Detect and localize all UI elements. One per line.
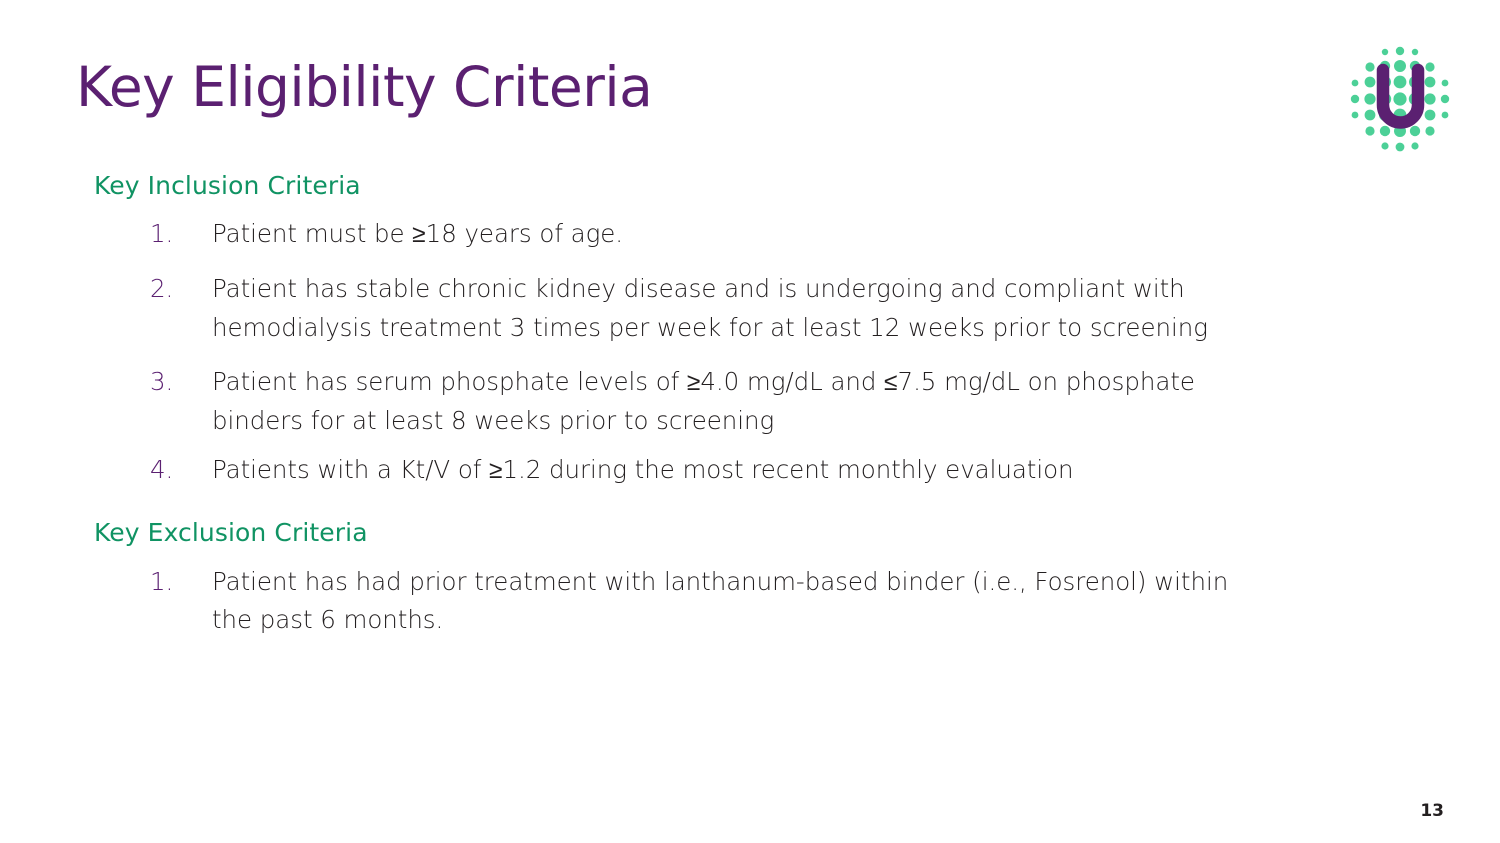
list-item: 1. Patient must be ≥18 years of age.	[0, 215, 1500, 254]
slide-body: Key Inclusion Criteria 1. Patient must b…	[0, 170, 1500, 640]
list-item-text: Patient must be ≥18 years of age.	[212, 219, 623, 248]
page-number: 13	[1420, 801, 1444, 821]
list-item-text: Patient has serum phosphate levels of ≥4…	[212, 367, 1195, 435]
section-heading-exclusion: Key Exclusion Criteria	[94, 517, 1500, 548]
section-exclusion: Key Exclusion Criteria 1. Patient has ha…	[0, 517, 1500, 640]
list-item-text: Patients with a Kt/V of ≥1.2 during the …	[212, 455, 1074, 484]
list-item-text: Patient has stable chronic kidney diseas…	[212, 274, 1208, 342]
list-item-number: 1.	[150, 563, 190, 602]
list-item: 2. Patient has stable chronic kidney dis…	[0, 270, 1500, 347]
list-item-number: 3.	[150, 363, 190, 402]
list-item: 3. Patient has serum phosphate levels of…	[0, 363, 1500, 440]
section-heading-inclusion: Key Inclusion Criteria	[94, 170, 1500, 201]
list-item-text: Patient has had prior treatment with lan…	[212, 567, 1228, 635]
slide-canvas: Key Eligibility Criteria	[0, 0, 1500, 843]
list-item-number: 2.	[150, 270, 190, 309]
exclusion-criteria-list: 1. Patient has had prior treatment with …	[0, 563, 1500, 640]
list-item-number: 4.	[150, 451, 190, 490]
company-u-logo	[1339, 44, 1461, 156]
inclusion-criteria-list: 1. Patient must be ≥18 years of age. 2. …	[0, 215, 1500, 489]
section-inclusion: Key Inclusion Criteria 1. Patient must b…	[0, 170, 1500, 489]
list-item: 1. Patient has had prior treatment with …	[0, 563, 1500, 640]
page-title: Key Eligibility Criteria	[76, 58, 652, 117]
list-item-number: 1.	[150, 215, 190, 254]
list-item: 4. Patients with a Kt/V of ≥1.2 during t…	[0, 451, 1500, 490]
